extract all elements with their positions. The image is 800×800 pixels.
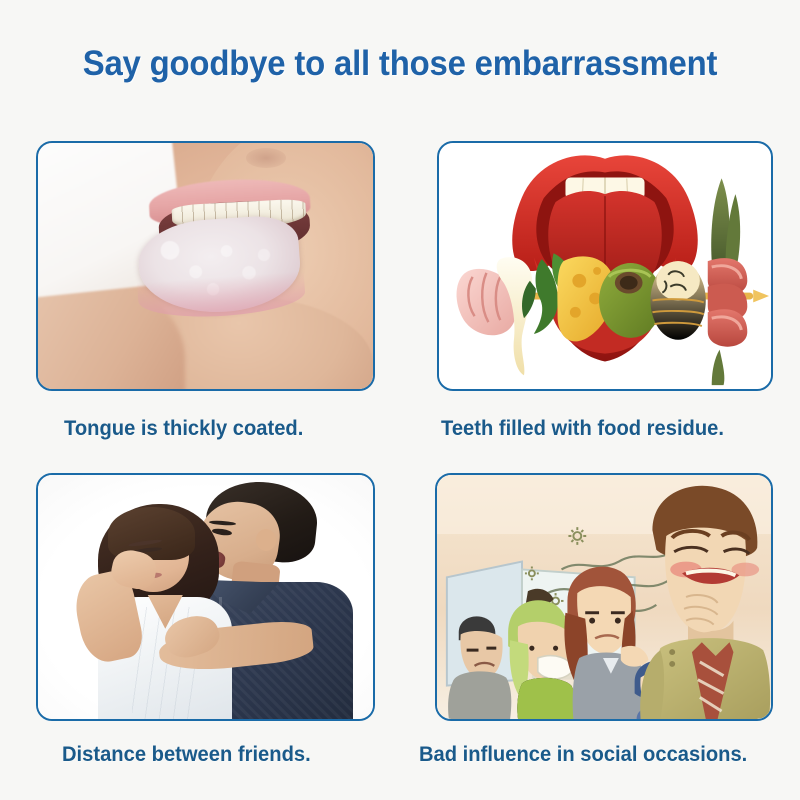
card-image-teeth — [439, 143, 771, 389]
caption-tongue: Tongue is thickly coated. — [64, 417, 303, 441]
man-ear — [256, 529, 276, 551]
card-frame — [435, 473, 773, 721]
card-image-tongue — [38, 143, 373, 389]
caption-distance: Distance between friends. — [62, 743, 311, 767]
office-svg — [437, 475, 771, 719]
caption-social: Bad influence in social occasions. — [419, 743, 747, 767]
card-frame — [36, 141, 375, 391]
card-image-distance — [38, 475, 373, 719]
caption-teeth: Teeth filled with food residue. — [441, 417, 724, 441]
promo-poster: Say goodbye to all those embarrassment — [0, 0, 800, 800]
mouth-svg — [439, 143, 771, 389]
food-bread — [650, 261, 705, 340]
food-asparagus-bacon — [708, 178, 748, 385]
illustration-office-bad-breath — [437, 475, 771, 719]
illustration-mouth-food-skewer — [439, 143, 771, 389]
card-social[interactable] — [435, 473, 773, 721]
card-image-social — [437, 475, 771, 719]
card-distance[interactable] — [36, 473, 375, 721]
photo-coated-tongue — [38, 143, 373, 389]
skewer-tip — [753, 290, 769, 303]
card-tongue[interactable] — [36, 141, 375, 391]
card-frame — [437, 141, 773, 391]
benefit-card-grid — [0, 0, 800, 800]
card-frame — [36, 473, 375, 721]
nostril-shadow — [246, 148, 286, 168]
photo-couple-recoiling — [38, 475, 373, 719]
card-teeth[interactable] — [437, 141, 773, 391]
